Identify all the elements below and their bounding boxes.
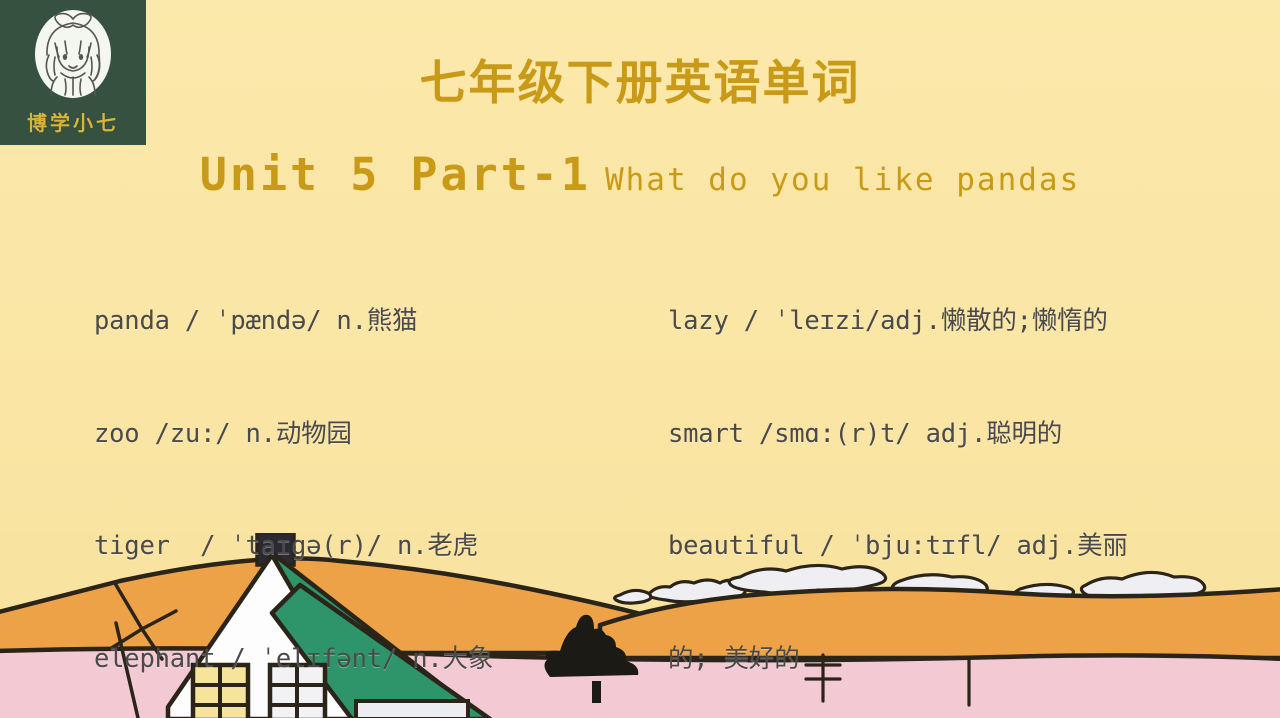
vocabulary-slide: 博学小七 七年级下册英语单词 Unit 5 Part-1What do you … [0, 0, 1280, 718]
vocabulary-right-column: lazy / ˈleɪzi/adj.懒散的;懒惰的 smart /smɑ:(r)… [584, 228, 1184, 718]
page-title: 七年级下册英语单词 [0, 44, 1280, 113]
girl-avatar-icon [31, 7, 115, 99]
vocab-entry: beautiful / ˈbju:tɪfl/ adj.美丽 [668, 528, 1184, 566]
vocab-entry: lazy / ˈleɪzi/adj.懒散的;懒惰的 [668, 303, 1184, 341]
vocab-entry: zoo /zu:/ n.动物园 [94, 416, 584, 454]
subtitle-row: Unit 5 Part-1What do you like pandas [0, 148, 1280, 201]
vocabulary-columns: panda / ˈpændə/ n.熊猫 zoo /zu:/ n.动物园 tig… [0, 228, 1280, 718]
vocab-entry: elephant / ˈelɪfənt/ n.大象 [94, 641, 584, 679]
vocab-entry: 的; 美好的 [668, 641, 1184, 679]
vocab-entry: tiger / ˈtaɪgə(r)/ n.老虎 [94, 528, 584, 566]
unit-label: Unit 5 Part-1 [200, 148, 591, 201]
vocab-entry: panda / ˈpændə/ n.熊猫 [94, 303, 584, 341]
logo-caption: 博学小七 [0, 107, 146, 136]
vocabulary-left-column: panda / ˈpændə/ n.熊猫 zoo /zu:/ n.动物园 tig… [0, 228, 584, 718]
unit-question: What do you like pandas [605, 162, 1080, 198]
vocab-entry: smart /smɑ:(r)t/ adj.聪明的 [668, 416, 1184, 454]
channel-logo-badge[interactable]: 博学小七 [0, 0, 146, 145]
